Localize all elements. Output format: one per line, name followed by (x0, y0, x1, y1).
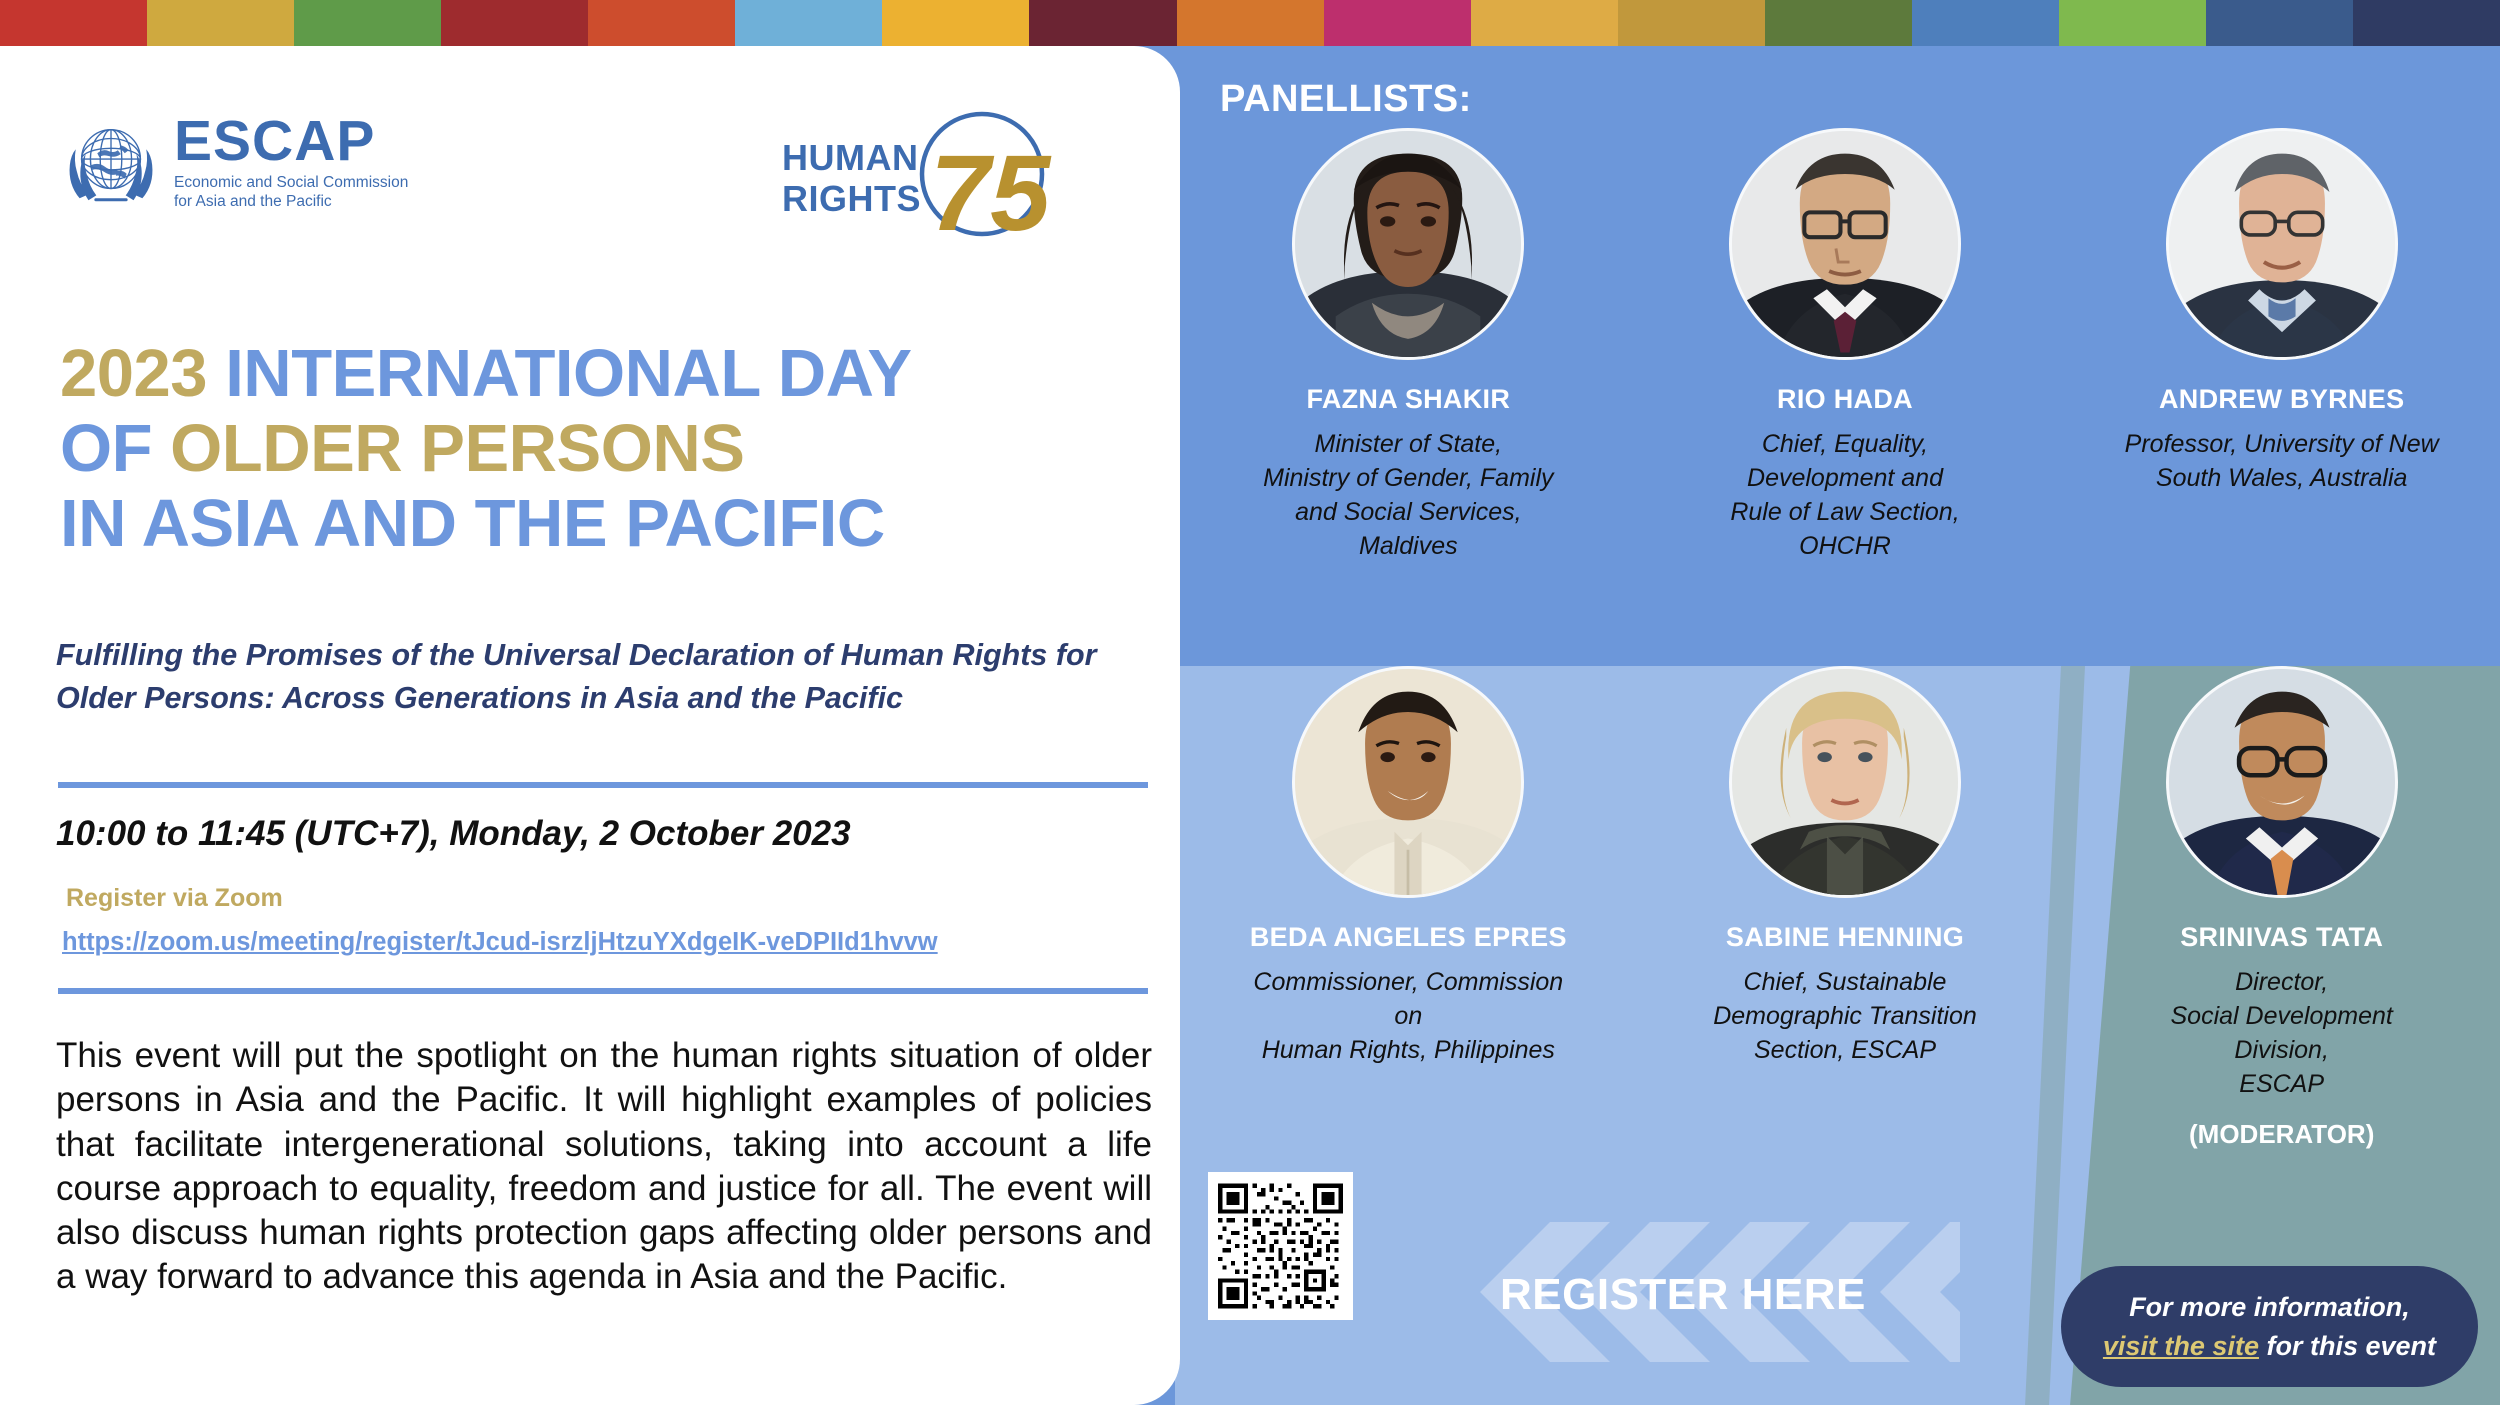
sdg-color-swatch-16 (2206, 0, 2353, 46)
panellist-name: SRINIVAS TATA (2180, 922, 2383, 953)
sdg-color-swatch-12 (1618, 0, 1765, 46)
pill-line-2: visit the site for this event (2103, 1327, 2436, 1365)
panellist-title: Commissioner, Commission on Human Rights… (1248, 965, 1568, 1067)
sdg-color-swatch-4 (441, 0, 588, 46)
sdg-color-bar (0, 0, 2500, 46)
more-information-pill[interactable]: For more information, visit the site for… (2061, 1266, 2478, 1387)
escap-wordmark: ESCAP Economic and Social Commission for… (174, 114, 408, 212)
svg-text:HUMAN: HUMAN (782, 137, 918, 178)
register-via-zoom-label: Register via Zoom (66, 884, 283, 913)
sdg-color-swatch-11 (1471, 0, 1618, 46)
svg-text:75: 75 (930, 132, 1052, 238)
panellist-card: FAZNA SHAKIR Minister of State, Ministry… (1190, 128, 1627, 658)
svg-text:RIGHTS: RIGHTS (782, 178, 921, 219)
event-description: This event will put the spotlight on the… (56, 1034, 1152, 1300)
panellist-card: ANDREW BYRNES Professor, University of N… (2063, 128, 2500, 658)
portrait-sabine-henning (1729, 666, 1961, 898)
divider-bottom (58, 988, 1148, 994)
panellist-card: RIO HADA Chief, Equality, Development an… (1627, 128, 2064, 658)
panellist-title: Chief, Sustainable Demographic Transitio… (1685, 965, 2005, 1067)
pill-line-1: For more information, (2103, 1288, 2436, 1326)
sdg-color-swatch-8 (1029, 0, 1176, 46)
escap-subtitle-line1: Economic and Social Commission (174, 174, 408, 191)
sdg-color-swatch-13 (1765, 0, 1912, 46)
title-line-3: IN ASIA AND THE PACIFIC (60, 486, 1150, 561)
panellist-card: SABINE HENNING Chief, Sustainable Demogr… (1627, 666, 2064, 1306)
pill-suffix: for this event (2259, 1331, 2436, 1361)
sdg-color-swatch-7 (882, 0, 1029, 46)
sdg-color-swatch-3 (294, 0, 441, 46)
zoom-registration-link[interactable]: https://zoom.us/meeting/register/tJcud-i… (62, 928, 938, 957)
panellist-role: (MODERATOR) (2189, 1119, 2374, 1150)
sdg-color-swatch-10 (1324, 0, 1471, 46)
panellist-title: Professor, University of New South Wales… (2122, 427, 2442, 495)
visit-site-link[interactable]: visit the site (2103, 1331, 2259, 1361)
portrait-andrew-byrnes (2166, 128, 2398, 360)
sdg-color-swatch-6 (735, 0, 882, 46)
panellist-title: Minister of State, Ministry of Gender, F… (1248, 427, 1568, 563)
panellist-name: FAZNA SHAKIR (1307, 384, 1511, 415)
event-info-card: ESCAP Economic and Social Commission for… (0, 46, 1180, 1405)
panellist-name: RIO HADA (1777, 384, 1913, 415)
sdg-color-swatch-9 (1177, 0, 1324, 46)
panellist-title: Director, Social Development Division, E… (2122, 965, 2442, 1101)
escap-subtitle: Economic and Social Commission for Asia … (174, 174, 408, 212)
logo-row: ESCAP Economic and Social Commission for… (62, 108, 1122, 238)
title-part-4: IN ASIA AND THE PACIFIC (60, 486, 885, 561)
title-part-3: OLDER PERSONS (170, 411, 744, 486)
event-datetime: 10:00 to 11:45 (UTC+7), Monday, 2 Octobe… (56, 814, 851, 854)
un-emblem-icon (62, 114, 160, 212)
portrait-fazna-shakir (1292, 128, 1524, 360)
panellists-heading: PANELLISTS: (1220, 78, 1472, 121)
panellist-name: BEDA ANGELES EPRES (1250, 922, 1567, 953)
sdg-color-swatch-15 (2059, 0, 2206, 46)
divider-top (58, 782, 1148, 788)
portrait-rio-hada (1729, 128, 1961, 360)
title-part-1: INTERNATIONAL DAY (225, 336, 911, 411)
title-year: 2023 (60, 336, 207, 411)
sdg-color-swatch-5 (588, 0, 735, 46)
human-rights-75-logo: HUMAN RIGHTS 75 (782, 108, 1062, 238)
page-title: 2023 INTERNATIONAL DAY OF OLDER PERSONS … (60, 336, 1150, 561)
sdg-color-swatch-1 (0, 0, 147, 46)
sdg-color-swatch-17 (2353, 0, 2500, 46)
panellists-row-top: FAZNA SHAKIR Minister of State, Ministry… (1190, 128, 2500, 658)
escap-name: ESCAP (174, 114, 408, 170)
escap-logo: ESCAP Economic and Social Commission for… (62, 114, 408, 212)
panellist-name: SABINE HENNING (1726, 922, 1964, 953)
panellists-row-bottom: BEDA ANGELES EPRES Commissioner, Commiss… (1190, 666, 2500, 1306)
panellist-name: ANDREW BYRNES (2159, 384, 2404, 415)
panellist-title: Chief, Equality, Development and Rule of… (1685, 427, 2005, 563)
event-subtitle: Fulfilling the Promises of the Universal… (56, 634, 1166, 721)
panellist-card: SRINIVAS TATA Director, Social Developme… (2063, 666, 2500, 1306)
escap-subtitle-line2: for Asia and the Pacific (174, 193, 332, 210)
portrait-beda-angeles-epres (1292, 666, 1524, 898)
title-part-2: OF (60, 411, 152, 486)
title-line-2: OF OLDER PERSONS (60, 411, 1150, 486)
register-here-label: REGISTER HERE (1500, 1270, 1866, 1320)
qr-code-icon[interactable] (1208, 1172, 1353, 1320)
portrait-srinivas-tata (2166, 666, 2398, 898)
title-line-1: 2023 INTERNATIONAL DAY (60, 336, 1150, 411)
sdg-color-swatch-14 (1912, 0, 2059, 46)
sdg-color-swatch-2 (147, 0, 294, 46)
